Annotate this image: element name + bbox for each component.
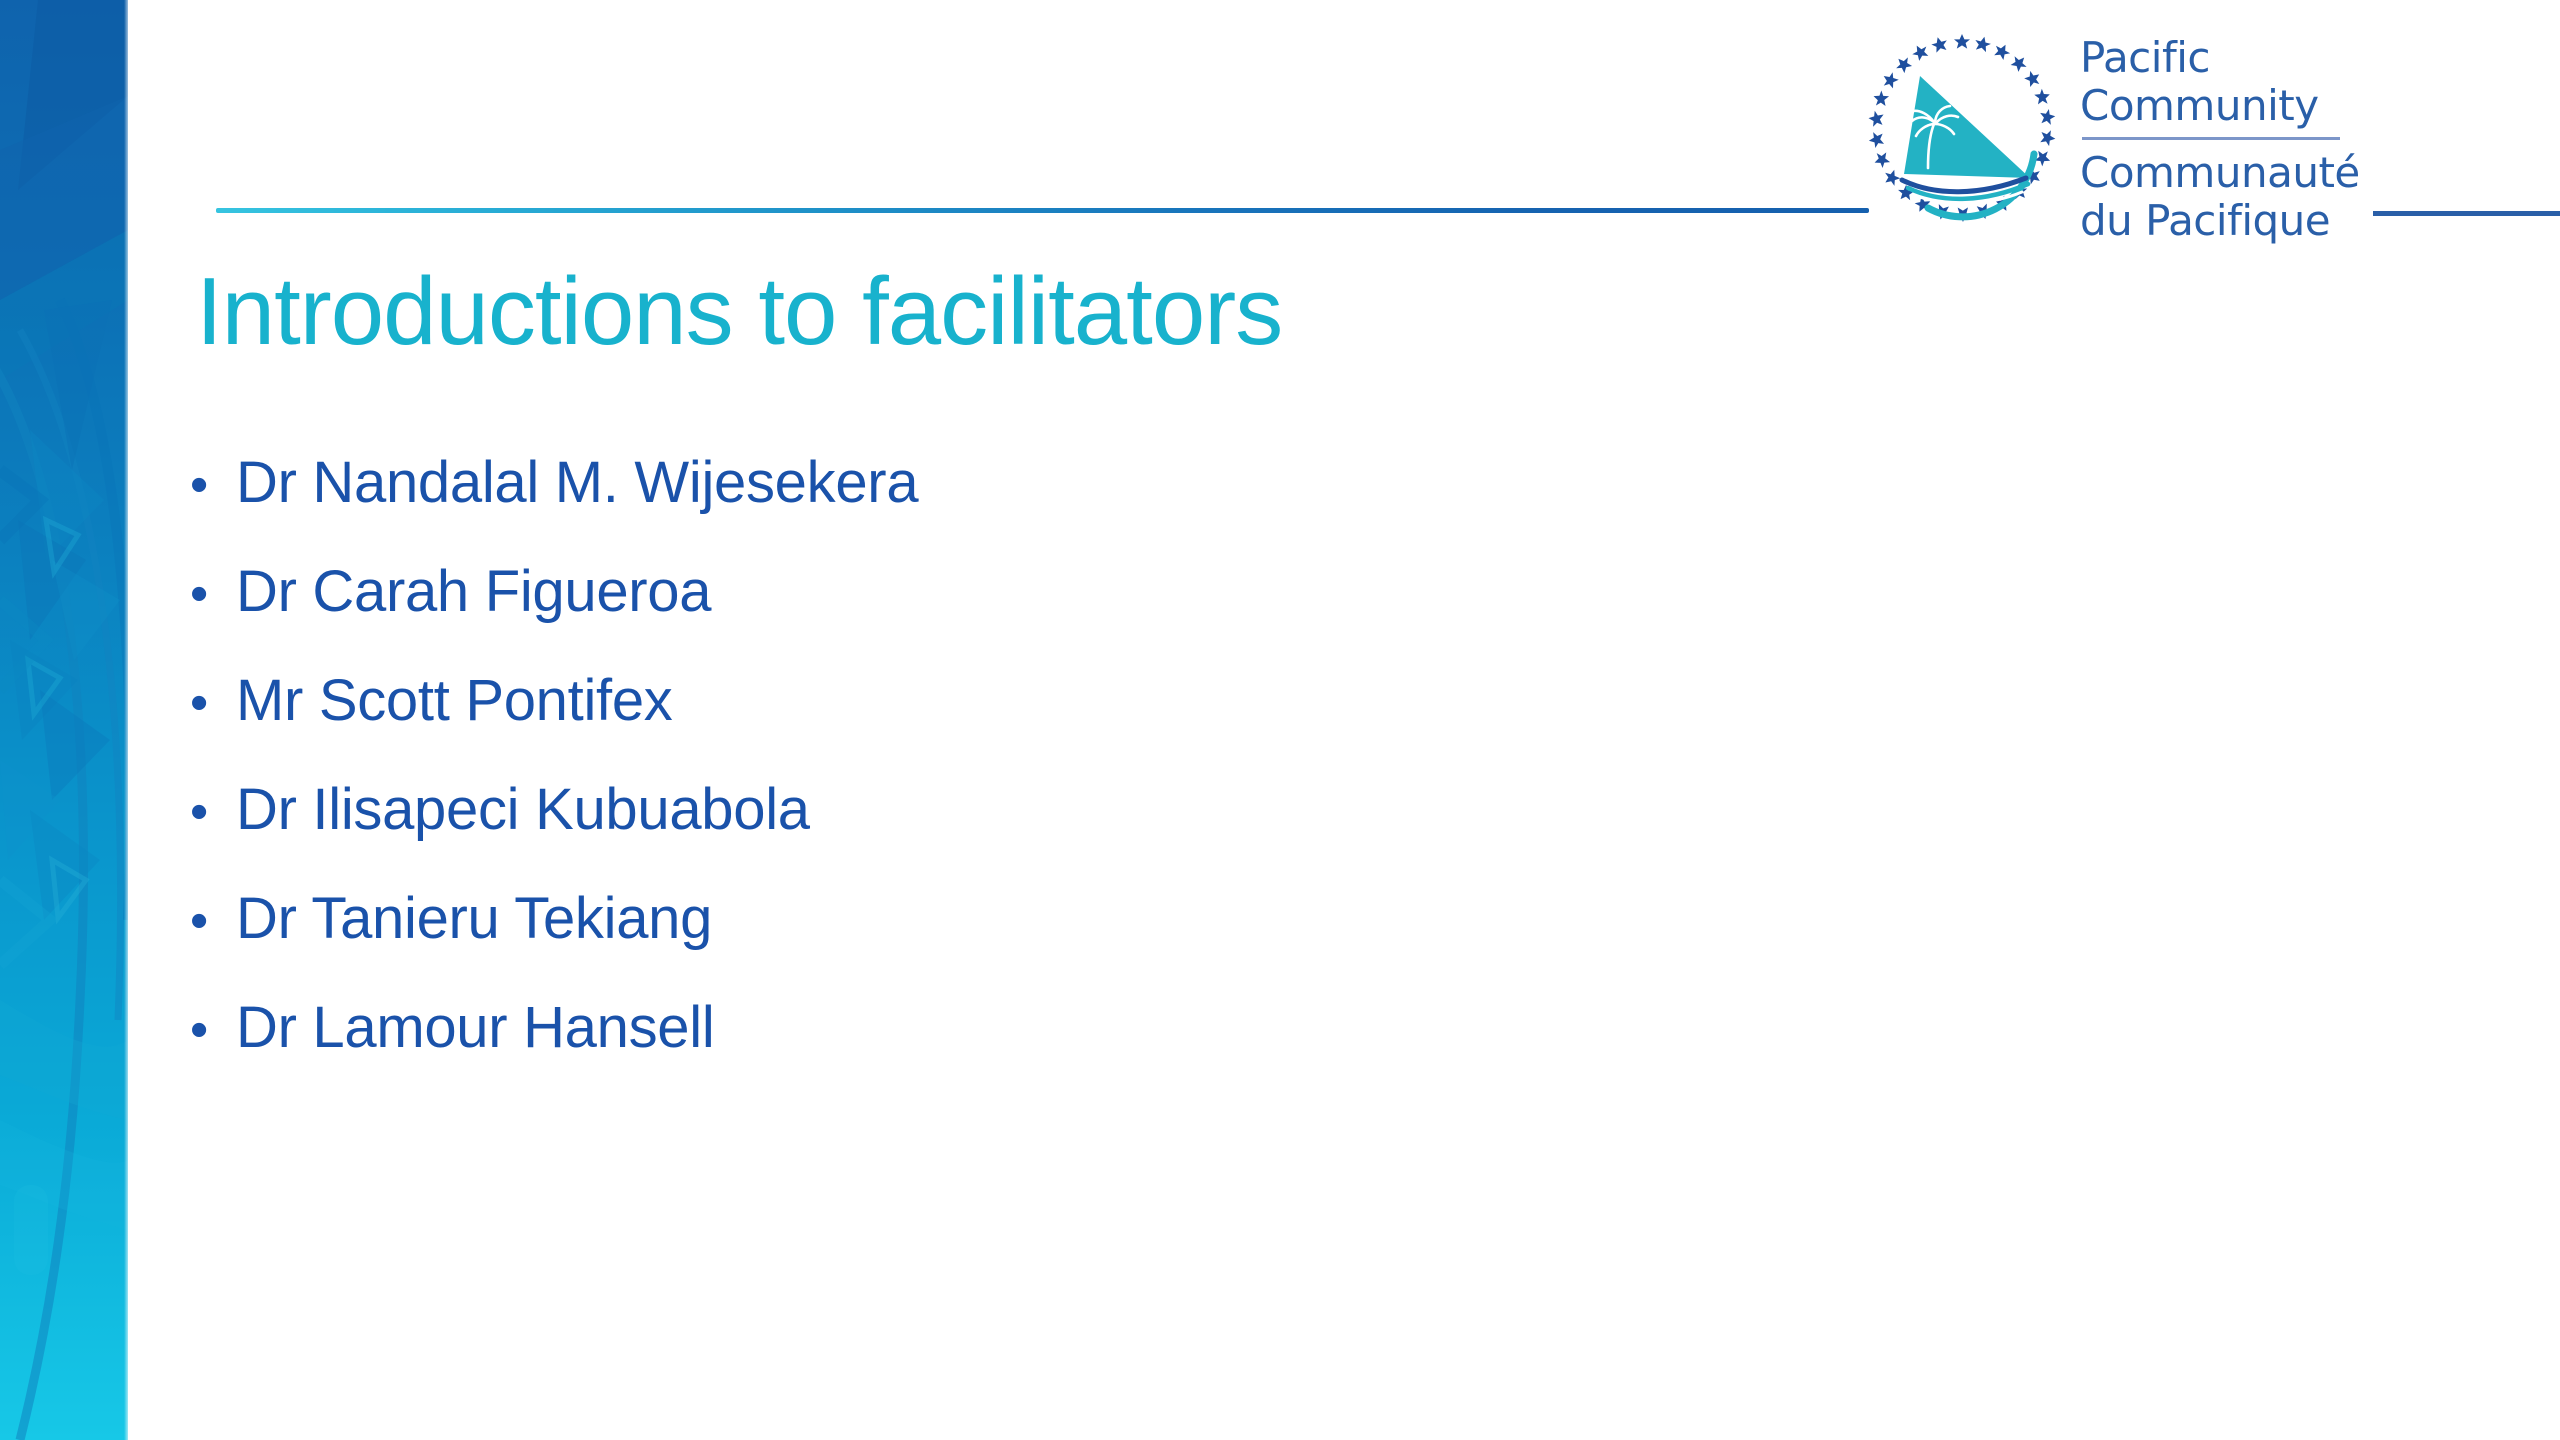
list-item: • Dr Nandalal M. Wijesekera: [190, 428, 2390, 537]
list-item: • Dr Carah Figueroa: [190, 537, 2390, 646]
bullet-marker-icon: •: [190, 431, 236, 540]
pacific-community-logo: Pacific Community Communauté du Pacifiqu…: [1862, 28, 2560, 244]
list-item: • Mr Scott Pontifex: [190, 646, 2390, 755]
list-item: • Dr Tanieru Tekiang: [190, 864, 2390, 973]
bullet-marker-icon: •: [190, 976, 236, 1085]
header-divider-line: [216, 208, 1869, 213]
bullet-marker-icon: •: [190, 649, 236, 758]
logo-mark-graphic: [1862, 28, 2062, 228]
bullet-marker-icon: •: [190, 758, 236, 867]
sail-canoe-emblem-icon: [1862, 28, 2062, 228]
tapa-pattern-graphic: [0, 0, 128, 1440]
list-item-label: Dr Nandalal M. Wijesekera: [236, 428, 918, 537]
decorative-sidebar: [0, 0, 128, 1440]
bullet-marker-icon: •: [190, 540, 236, 649]
bullet-marker-icon: •: [190, 867, 236, 976]
list-item-label: Dr Tanieru Tekiang: [236, 864, 712, 973]
logo-wordmark-french-line1: Communauté: [2080, 149, 2380, 197]
logo-wordmark-divider: [2082, 137, 2340, 140]
logo-wordmark-english-line2: Community: [2080, 82, 2380, 130]
logo-wordmark-english-line1: Pacific: [2080, 34, 2380, 82]
list-item-label: Mr Scott Pontifex: [236, 646, 673, 755]
slide-canvas: Pacific Community Communauté du Pacifiqu…: [0, 0, 2560, 1440]
list-item: • Dr Ilisapeci Kubuabola: [190, 755, 2390, 864]
logo-wordmark-french-line2: du Pacifique: [2080, 197, 2380, 245]
slide-title: Introductions to facilitators: [196, 258, 2396, 366]
list-item: • Dr Lamour Hansell: [190, 973, 2390, 1082]
facilitators-list: • Dr Nandalal M. Wijesekera • Dr Carah F…: [190, 428, 2390, 1082]
list-item-label: Dr Ilisapeci Kubuabola: [236, 755, 810, 864]
list-item-label: Dr Lamour Hansell: [236, 973, 714, 1082]
logo-wordmark: Pacific Community Communauté du Pacifiqu…: [2080, 34, 2380, 245]
list-item-label: Dr Carah Figueroa: [236, 537, 711, 646]
